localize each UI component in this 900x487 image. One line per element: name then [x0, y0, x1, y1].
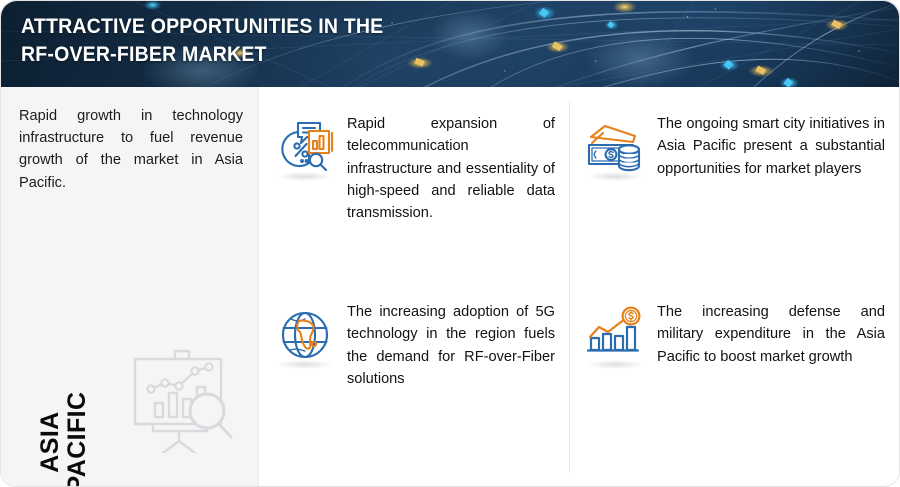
- page-title: ATTRACTIVE OPPORTUNITIES IN THE RF-OVER-…: [21, 13, 383, 69]
- opportunity-text: The increasing adoption of 5G technology…: [347, 299, 555, 390]
- opportunity-cell-telecom-expansion: Rapid expansion of telecommunication inf…: [259, 87, 569, 287]
- intro-paragraph: Rapid growth in technology infrastructur…: [19, 105, 243, 194]
- body-area: Rapid growth in technology infrastructur…: [1, 87, 899, 487]
- money-cash-coins-icon: [579, 111, 651, 183]
- opportunity-cell-defense-expenditure: The increasing defense and military expe…: [569, 287, 899, 487]
- presentation-board-chart-icon: [123, 341, 241, 453]
- analytics-chart-search-icon: [269, 111, 341, 183]
- column-divider: [569, 101, 570, 473]
- header-banner: ATTRACTIVE OPPORTUNITIES IN THE RF-OVER-…: [1, 1, 899, 87]
- infographic-container: ATTRACTIVE OPPORTUNITIES IN THE RF-OVER-…: [0, 0, 900, 487]
- globe-world-icon: [269, 299, 341, 371]
- opportunity-text: Rapid expansion of telecommunication inf…: [347, 111, 555, 225]
- opportunities-grid: Rapid expansion of telecommunication inf…: [259, 87, 899, 487]
- left-summary-panel: Rapid growth in technology infrastructur…: [1, 87, 259, 487]
- opportunity-cell-smart-city: The ongoing smart city initiatives in As…: [569, 87, 899, 287]
- opportunity-text: The ongoing smart city initiatives in As…: [657, 111, 885, 180]
- opportunity-cell-five-g-adoption: The increasing adoption of 5G technology…: [259, 287, 569, 487]
- region-label: ASIA PACIFIC: [37, 367, 91, 487]
- growth-bar-chart-dollar-icon: [579, 299, 651, 371]
- opportunity-text: The increasing defense and military expe…: [657, 299, 885, 368]
